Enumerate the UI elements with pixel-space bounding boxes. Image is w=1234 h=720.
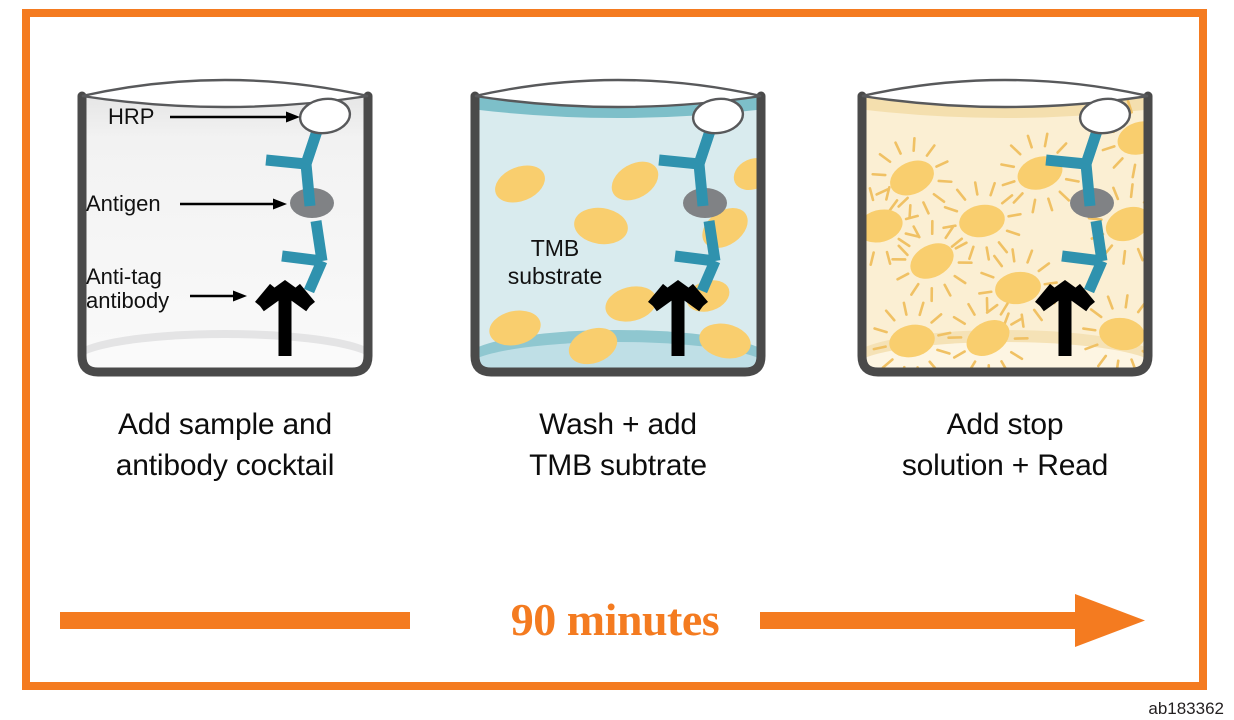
label-tmb-line-2: substrate	[508, 263, 603, 289]
label-anti-tag-line-1: Anti-tag	[86, 264, 162, 289]
caption-step-2: Wash + add TMB subtrate	[453, 404, 783, 486]
label-anti-tag-line-2: antibody	[86, 288, 169, 313]
caption-line-1: Add sample and	[60, 404, 390, 445]
timeline-label: 90 minutes	[60, 580, 1170, 660]
caption-line-2: antibody cocktail	[60, 445, 390, 486]
well-illustration-step-1: HRP Antigen Anti-tag antibody	[60, 56, 390, 386]
caption-line-1: Add stop	[840, 404, 1170, 445]
label-antigen: Antigen	[86, 191, 161, 216]
caption-line-2: solution + Read	[840, 445, 1170, 486]
panel-step-2: TMB substrate Wash + add TMB subtrate	[453, 56, 783, 506]
well-illustration-step-2: TMB substrate	[453, 56, 783, 386]
caption-line-2: TMB subtrate	[453, 445, 783, 486]
label-hrp: HRP	[108, 104, 154, 129]
figure-canvas: HRP Antigen Anti-tag antibody Add sample…	[0, 0, 1234, 720]
label-tmb-line-1: TMB	[531, 235, 580, 261]
well-illustration-step-3	[840, 56, 1170, 386]
well-interior-step-3	[840, 86, 1170, 386]
panel-step-3: Add stop solution + Read	[840, 56, 1170, 506]
panel-step-1: HRP Antigen Anti-tag antibody Add sample…	[60, 56, 390, 506]
caption-step-1: Add sample and antibody cocktail	[60, 404, 390, 486]
timeline-arrow: 90 minutes	[60, 580, 1170, 660]
caption-step-3: Add stop solution + Read	[840, 404, 1170, 486]
caption-line-1: Wash + add	[453, 404, 783, 445]
watermark-code: ab183362	[1148, 699, 1224, 719]
